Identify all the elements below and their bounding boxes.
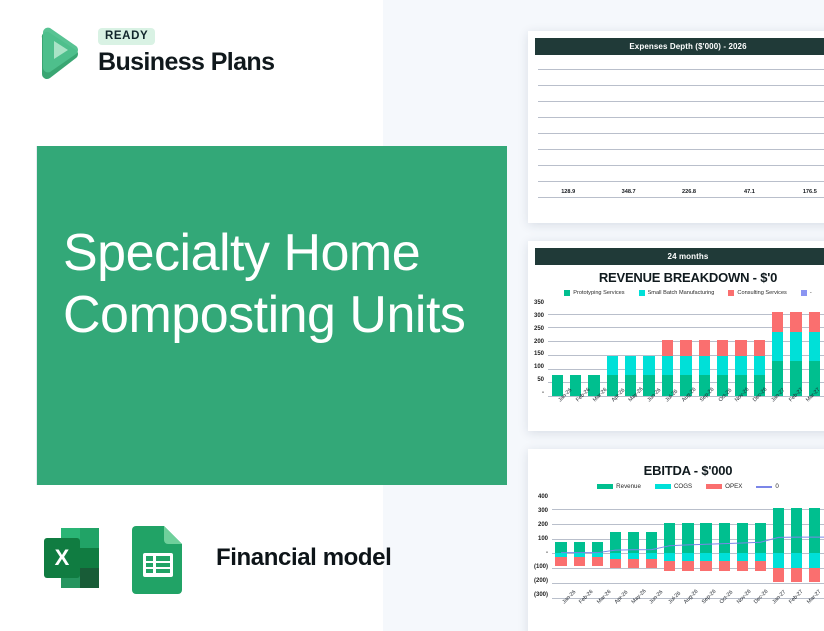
bar-stack [680, 300, 691, 396]
bar-segment [552, 375, 563, 396]
x-tick: Mar-26 [597, 600, 615, 626]
y-tick-label: 100 [538, 536, 548, 542]
bar-stack [643, 300, 654, 396]
revenue-y-axis: 35030025020015010050- [534, 300, 548, 396]
bar-segment [735, 356, 746, 375]
y-tick-label: - [546, 550, 548, 556]
y-tick-label: (300) [534, 592, 548, 598]
x-tick: Jan-27 [772, 600, 790, 626]
bar-slot [622, 300, 640, 396]
revenue-plot-area [548, 300, 824, 396]
bar-slot [805, 300, 823, 396]
hero-card: Specialty Home Composting Units [37, 146, 507, 485]
legend-item: 0 [756, 483, 778, 490]
bar-slot [769, 300, 787, 396]
x-tick: Dec-26 [755, 600, 773, 626]
y-tick-label: 250 [534, 326, 544, 332]
expenses-sheet-header: Expenses Depth ($'000) - 2026 [535, 38, 824, 55]
y-tick-label: (100) [534, 564, 548, 570]
bar-slot [585, 300, 603, 396]
x-tick: Feb-26 [580, 600, 598, 626]
ebitda-x-axis: Jan-26Feb-26Mar-26Apr-26May-26Jun-26Jul-… [562, 598, 824, 626]
bar-stack [790, 300, 801, 396]
bar-slot [787, 300, 805, 396]
bar-segment [809, 312, 820, 332]
x-tick: Mar-26 [594, 398, 612, 424]
bar-stack [607, 300, 618, 396]
expenses-bars: 128.9348.7226.847.1176.5 [538, 69, 824, 197]
legend-swatch [564, 290, 570, 296]
y-tick-label: (200) [534, 578, 548, 584]
ebitda-y-axis: 400300200100-(100)(200)(300) [534, 494, 552, 598]
x-tick: May-26 [629, 398, 647, 424]
bar-slot [603, 300, 621, 396]
bar-slot [732, 300, 750, 396]
bar-segment [680, 340, 691, 356]
bar-stack [625, 300, 636, 396]
chart-card-ebitda[interactable]: EBITDA - $'000 RevenueCOGSOPEX0 40030020… [528, 449, 824, 631]
legend-item: COGS [655, 483, 692, 490]
legend-label: 0 [775, 483, 778, 490]
bar-slot [750, 300, 768, 396]
financial-model-label: Financial model [216, 544, 391, 572]
bar-segment [662, 340, 673, 356]
legend-swatch [655, 484, 671, 489]
bar-segment [607, 356, 618, 375]
legend-swatch [756, 486, 772, 488]
x-tick: Feb-26 [576, 398, 594, 424]
legend-swatch [801, 290, 807, 296]
bar-slot [548, 300, 566, 396]
brand-lockup: READY Business Plans [32, 24, 274, 80]
bar-value-label: 176.5 [803, 189, 817, 195]
bar-slot [640, 300, 658, 396]
x-tick: Jan-26 [562, 600, 580, 626]
x-tick: Feb-27 [789, 398, 807, 424]
bar-segment [643, 356, 654, 375]
legend-item: Small Batch Manufacturing [639, 290, 715, 296]
bar-segment [699, 356, 710, 375]
x-tick: Jul-26 [665, 398, 683, 424]
chart-card-expenses[interactable]: Expenses Depth ($'000) - 2026 128.9348.7… [528, 31, 824, 223]
y-tick-label: 200 [538, 522, 548, 528]
bar-segment [772, 332, 783, 361]
revenue-chart-title: REVENUE BREAKDOWN - $'0 [528, 265, 824, 287]
bar-stack [570, 300, 581, 396]
format-row: X Financial model [36, 522, 391, 594]
bar-segment [625, 356, 636, 375]
x-tick: Feb-27 [790, 600, 808, 626]
x-tick: May-26 [632, 600, 650, 626]
bar-segment [772, 312, 783, 332]
bar-slot [695, 300, 713, 396]
bar-segment [790, 312, 801, 332]
legend-swatch [597, 484, 613, 489]
google-sheets-icon [126, 522, 192, 594]
y-tick-label: 100 [534, 364, 544, 370]
bar-value-label: 47.1 [744, 189, 755, 195]
x-tick: Nov-26 [737, 600, 755, 626]
x-tick: Mar-27 [807, 600, 824, 626]
bar-segment [790, 332, 801, 361]
poster-canvas: READY Business Plans Specialty Home Comp… [0, 0, 824, 631]
expenses-plot-area: 128.9348.7226.847.1176.5 [538, 69, 824, 197]
ebitda-chart-title: EBITDA - $'000 [528, 449, 824, 480]
ebitda-legend: RevenueCOGSOPEX0 [528, 480, 824, 492]
y-tick-label: 400 [538, 494, 548, 500]
x-tick: Oct-26 [720, 600, 738, 626]
y-tick-label: - [542, 390, 544, 396]
legend-item: Revenue [597, 483, 641, 490]
y-tick-label: 50 [537, 377, 544, 383]
bar-stack [717, 300, 728, 396]
legend-label: Prototyping Services [573, 290, 624, 296]
bar-segment [662, 356, 673, 375]
bar-slot [713, 300, 731, 396]
bar-segment [754, 340, 765, 356]
x-tick: Aug-26 [682, 398, 700, 424]
bar-slot [566, 300, 584, 396]
x-tick: Jan-27 [771, 398, 789, 424]
x-tick: Nov-26 [736, 398, 754, 424]
bar-value-label: 348.7 [622, 189, 636, 195]
gridline [538, 197, 824, 198]
x-tick: Apr-26 [611, 398, 629, 424]
x-tick: Oct-26 [718, 398, 736, 424]
bar-segment [717, 340, 728, 356]
y-tick-label: 150 [534, 351, 544, 357]
brand-text: READY Business Plans [98, 28, 274, 77]
x-tick: Dec-26 [753, 398, 771, 424]
legend-label: OPEX [725, 483, 742, 490]
bar-segment [680, 356, 691, 375]
brand-name: Business Plans [98, 48, 274, 77]
bar-value-label: 226.8 [682, 189, 696, 195]
ebitda-plot-area [552, 494, 824, 598]
bar-stack [699, 300, 710, 396]
bar-value-label: 128.9 [561, 189, 575, 195]
chart-card-revenue[interactable]: 24 months REVENUE BREAKDOWN - $'0 Protot… [528, 241, 824, 431]
legend-swatch [706, 484, 722, 489]
legend-label: Consulting Services [737, 290, 786, 296]
bar-slot [658, 300, 676, 396]
y-tick-label: 200 [534, 339, 544, 345]
legend-item: - [801, 290, 812, 296]
x-tick: Jan-26 [558, 398, 576, 424]
x-tick: Jun-26 [650, 600, 668, 626]
bar-stack [588, 300, 599, 396]
bar-stack [662, 300, 673, 396]
revenue-x-axis: Jan-26Feb-26Mar-26Apr-26May-26Jun-26Jul-… [558, 396, 824, 424]
bar-stack [754, 300, 765, 396]
x-tick: Apr-26 [615, 600, 633, 626]
bar-stack [735, 300, 746, 396]
x-tick: Sep-26 [700, 398, 718, 424]
revenue-bars [548, 300, 824, 396]
x-tick: Sep-26 [702, 600, 720, 626]
x-tick: Aug-26 [685, 600, 703, 626]
y-tick-label: 300 [538, 508, 548, 514]
revenue-legend: Prototyping ServicesSmall Batch Manufact… [528, 287, 824, 298]
page-title: Specialty Home Composting Units [63, 222, 483, 346]
bar-stack [552, 300, 563, 396]
y-tick-label: 350 [534, 300, 544, 306]
ebitda-zero-line-series [552, 494, 824, 598]
microsoft-excel-icon: X [36, 522, 108, 594]
bar-segment [754, 356, 765, 375]
bar-segment [717, 356, 728, 375]
x-tick: Mar-27 [807, 398, 824, 424]
legend-swatch [639, 290, 645, 296]
legend-item: Consulting Services [728, 290, 786, 296]
legend-label: - [810, 290, 812, 296]
bar-segment [699, 340, 710, 356]
legend-swatch [728, 290, 734, 296]
x-tick: Jun-26 [647, 398, 665, 424]
bar-segment [735, 340, 746, 356]
legend-label: Revenue [616, 483, 641, 490]
svg-text:X: X [55, 545, 70, 570]
bar-segment [809, 332, 820, 361]
legend-item: OPEX [706, 483, 742, 490]
legend-item: Prototyping Services [564, 290, 624, 296]
legend-label: COGS [674, 483, 692, 490]
legend-label: Small Batch Manufacturing [648, 290, 715, 296]
x-tick: Jul-26 [667, 600, 685, 626]
bar-stack [772, 300, 783, 396]
play-triangle-logo-icon [32, 24, 86, 80]
bar-stack [809, 300, 820, 396]
bar-slot [677, 300, 695, 396]
y-tick-label: 300 [534, 313, 544, 319]
revenue-sheet-header: 24 months [535, 248, 824, 265]
ready-badge: READY [98, 28, 155, 45]
